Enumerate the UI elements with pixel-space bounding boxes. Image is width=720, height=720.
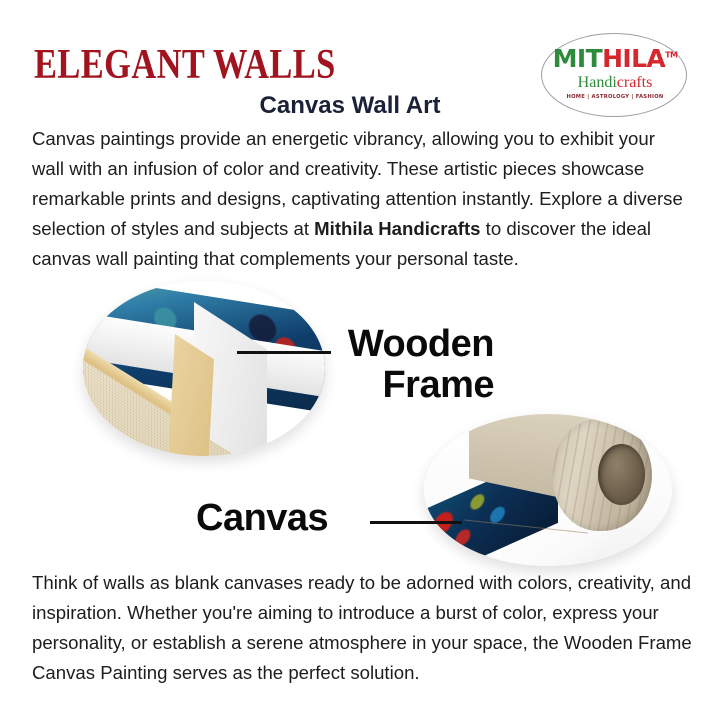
page-title: ELEGANT WALLS — [34, 44, 336, 86]
brand-logo: MITHILATM Handicrafts HOME | ASTROLOGY |… — [541, 33, 687, 117]
wooden-frame-photo-inner — [83, 281, 325, 456]
poster-page: ELEGANT WALLS Canvas Wall Art MITHILATM … — [0, 0, 720, 720]
logo-handicrafts-handi: Handi — [578, 74, 617, 91]
header: ELEGANT WALLS Canvas Wall Art MITHILATM … — [0, 0, 720, 128]
wooden-frame-label-line-2: Frame — [330, 365, 494, 406]
canvas-leader-line — [370, 521, 462, 524]
canvas-label: Canvas — [196, 498, 328, 539]
rolled-canvas-photo-inner — [424, 414, 672, 566]
wooden-frame-label: Wooden Frame — [330, 324, 494, 406]
intro-paragraph: Canvas paintings provide an energetic vi… — [32, 124, 692, 274]
logo-wordmark-mi: MI — [553, 44, 586, 73]
outro-paragraph: Think of walls as blank canvases ready t… — [32, 568, 692, 688]
logo-wordmark: MITHILATM — [542, 46, 688, 71]
rolled-canvas-photo — [424, 414, 672, 566]
logo-wordmark-t: T — [586, 44, 602, 73]
logo-wordmark-hila: HILA — [602, 44, 665, 73]
logo-handicrafts-crafts: crafts — [617, 74, 653, 91]
wooden-frame-leader-line — [237, 351, 331, 354]
logo-handicrafts: Handicrafts — [542, 75, 688, 91]
wooden-frame-label-line-1: Wooden — [330, 324, 494, 365]
trademark-icon: TM — [665, 51, 677, 60]
intro-brand-name: Mithila Handicrafts — [314, 218, 480, 239]
roll-core-hole — [598, 444, 645, 505]
logo-tagline: HOME | ASTROLOGY | FASHION — [542, 94, 688, 100]
wooden-frame-photo — [83, 281, 325, 456]
